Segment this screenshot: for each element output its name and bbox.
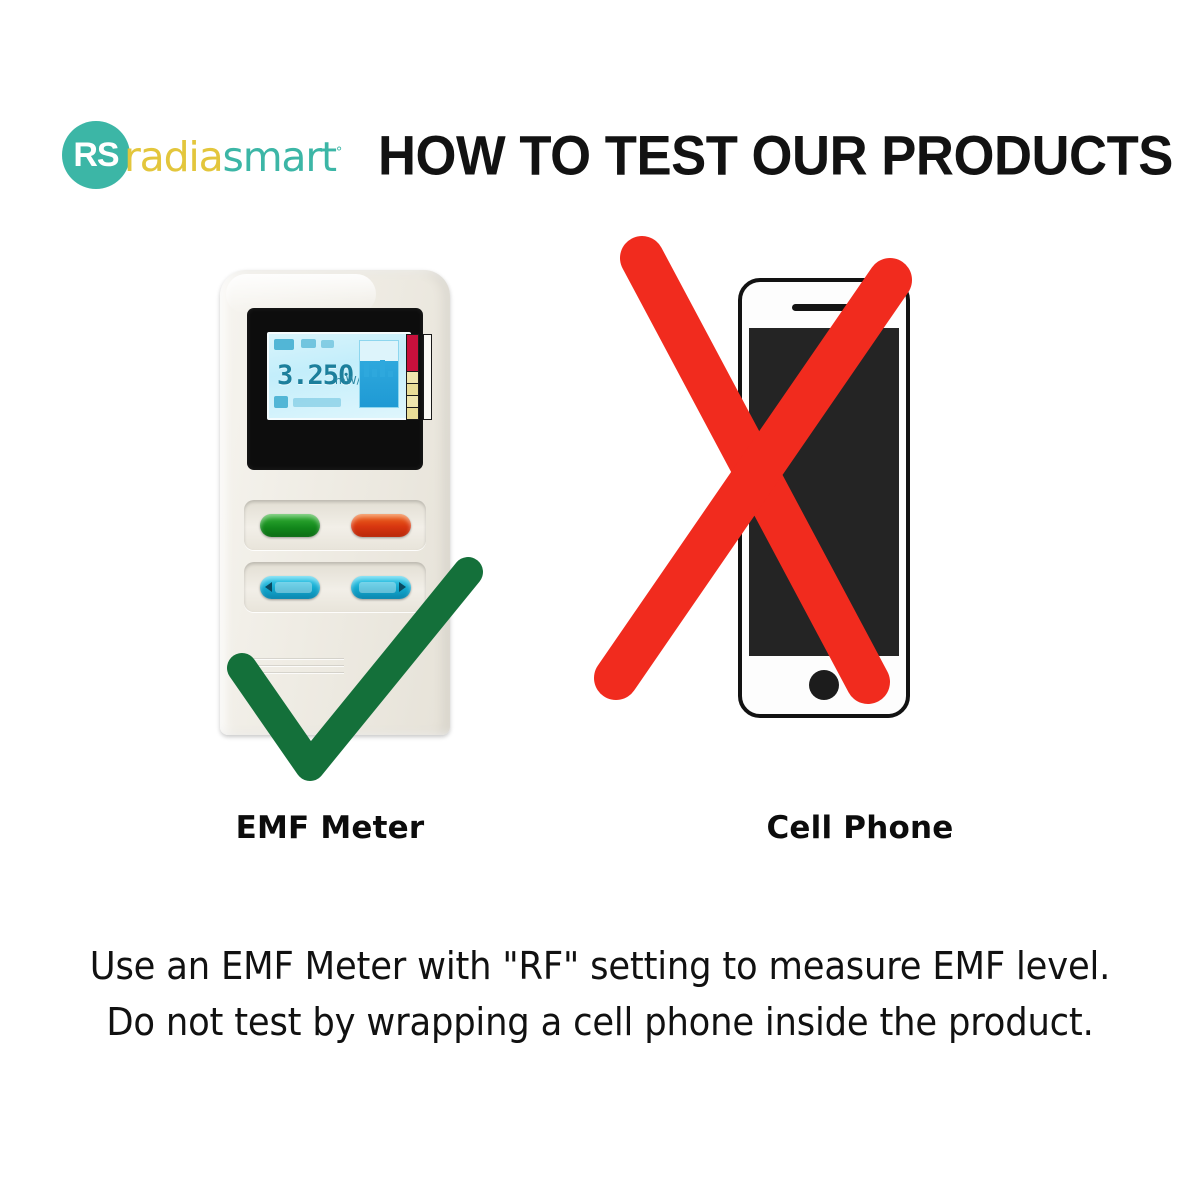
rejected-cross-icon	[590, 230, 920, 730]
lcd-indicator-icon	[301, 339, 316, 348]
button-row-primary	[244, 500, 426, 550]
approved-checkmark-icon	[230, 550, 490, 780]
lcd-indicator-icon	[321, 340, 334, 348]
right-panel: Cell Phone	[620, 250, 1100, 870]
signal-gauge	[406, 334, 419, 420]
instruction-line-2: Do not test by wrapping a cell phone ins…	[42, 994, 1158, 1050]
logo-trademark-icon: °	[336, 145, 343, 160]
power-button[interactable]	[260, 514, 320, 537]
hold-button[interactable]	[351, 514, 411, 537]
logo-badge-text: RS	[73, 138, 118, 172]
header: RS radiasmart° HOW TO TEST OUR PRODUCTS	[0, 112, 1200, 198]
left-panel: 3.250 mW/m²	[90, 250, 570, 870]
poster-root: RS radiasmart° HOW TO TEST OUR PRODUCTS …	[0, 0, 1200, 1200]
lcd-status-bar	[293, 398, 341, 407]
logo-word-radia: radia	[124, 133, 223, 181]
lcd-indicator-icon	[274, 339, 294, 350]
meter-display-bezel: 3.250 mW/m²	[247, 308, 423, 470]
instruction-line-1: Use an EMF Meter with "RF" setting to me…	[42, 938, 1158, 994]
emf-meter-stage: 3.250 mW/m²	[90, 250, 570, 770]
page-title: HOW TO TEST OUR PRODUCTS	[378, 123, 1173, 188]
instruction-text: Use an EMF Meter with "RF" setting to me…	[0, 938, 1200, 1050]
brand-logo: RS radiasmart°	[62, 112, 342, 198]
lcd-screen: 3.250 mW/m²	[267, 332, 411, 420]
logo-word-smart: smart	[223, 133, 336, 181]
left-panel-caption: EMF Meter	[90, 810, 570, 846]
lcd-bar-graph	[359, 340, 399, 408]
lcd-mode-icon	[274, 396, 288, 408]
logo-wordmark: radiasmart°	[124, 137, 342, 178]
signal-gauge-secondary	[423, 334, 432, 420]
logo-badge-icon: RS	[62, 121, 130, 189]
right-panel-caption: Cell Phone	[620, 810, 1100, 846]
cell-phone-stage	[620, 250, 1100, 770]
